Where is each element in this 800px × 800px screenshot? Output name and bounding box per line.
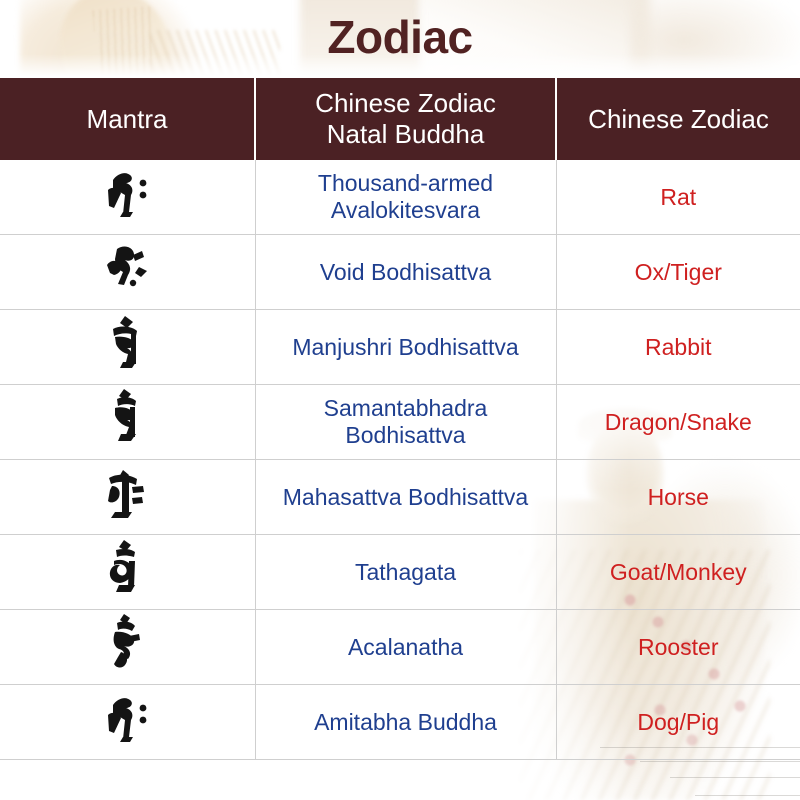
- zodiac-table-container: Mantra Chinese Zodiac Natal Buddha Chine…: [0, 78, 800, 760]
- natal-buddha-cell: Manjushri Bodhisattva: [255, 310, 556, 385]
- zodiac-sign-cell: Dragon/Snake: [556, 385, 800, 460]
- zodiac-infographic-page: Zodiac Mantra Chinese Zodiac Natal Buddh…: [0, 0, 800, 800]
- column-header-natal-buddha-line2: Natal Buddha: [327, 119, 485, 149]
- siddham-seed-syllable-am-icon: [99, 387, 155, 447]
- table-body: Thousand-armed Avalokitesvara Rat: [0, 160, 800, 760]
- siddham-seed-syllable-vam-icon: [99, 537, 155, 597]
- zodiac-sign-cell: Dog/Pig: [556, 685, 800, 760]
- mantra-cell: [0, 610, 255, 685]
- header-row: Mantra Chinese Zodiac Natal Buddha Chine…: [0, 78, 800, 160]
- column-header-chinese-zodiac: Chinese Zodiac: [556, 78, 800, 160]
- zodiac-sign-cell: Ox/Tiger: [556, 235, 800, 310]
- natal-buddha-line1: Thousand-armed: [318, 170, 493, 196]
- table-row: Amitabha Buddha Dog/Pig: [0, 685, 800, 760]
- siddham-seed-syllable-sa-icon: [99, 462, 155, 522]
- natal-buddha-cell: Mahasattva Bodhisattva: [255, 460, 556, 535]
- column-header-natal-buddha-line1: Chinese Zodiac: [315, 88, 496, 118]
- mantra-cell: [0, 160, 255, 235]
- siddham-seed-syllable-tram-icon: [99, 237, 155, 297]
- table-row: Acalanatha Rooster: [0, 610, 800, 685]
- table-row: Manjushri Bodhisattva Rabbit: [0, 310, 800, 385]
- mantra-cell: [0, 310, 255, 385]
- table-header: Mantra Chinese Zodiac Natal Buddha Chine…: [0, 78, 800, 160]
- table-row: Tathagata Goat/Monkey: [0, 535, 800, 610]
- mantra-cell: [0, 535, 255, 610]
- zodiac-sign-cell: Horse: [556, 460, 800, 535]
- mantra-cell: [0, 685, 255, 760]
- natal-buddha-cell: Thousand-armed Avalokitesvara: [255, 160, 556, 235]
- table-row: Thousand-armed Avalokitesvara Rat: [0, 160, 800, 235]
- table-row: Void Bodhisattva Ox/Tiger: [0, 235, 800, 310]
- mantra-cell: [0, 460, 255, 535]
- mantra-cell: [0, 235, 255, 310]
- natal-buddha-line1: Samantabhadra: [324, 395, 488, 421]
- mantra-cell: [0, 385, 255, 460]
- zodiac-sign-cell: Rabbit: [556, 310, 800, 385]
- siddham-seed-syllable-hrih-icon: [99, 162, 155, 222]
- table-row: Samantabhadra Bodhisattva Dragon/Snake: [0, 385, 800, 460]
- column-header-natal-buddha: Chinese Zodiac Natal Buddha: [255, 78, 556, 160]
- page-title: Zodiac: [0, 8, 800, 66]
- column-header-mantra: Mantra: [0, 78, 255, 160]
- natal-buddha-line2: Bodhisattva: [345, 422, 465, 448]
- siddham-seed-syllable-man-icon: [99, 312, 155, 372]
- siddham-seed-syllable-hrih-icon: [99, 687, 155, 747]
- zodiac-sign-cell: Rat: [556, 160, 800, 235]
- natal-buddha-cell: Acalanatha: [255, 610, 556, 685]
- siddham-seed-syllable-hamman-icon: [99, 612, 155, 672]
- natal-buddha-cell: Tathagata: [255, 535, 556, 610]
- zodiac-sign-cell: Goat/Monkey: [556, 535, 800, 610]
- natal-buddha-cell: Void Bodhisattva: [255, 235, 556, 310]
- natal-buddha-cell: Samantabhadra Bodhisattva: [255, 385, 556, 460]
- zodiac-table: Mantra Chinese Zodiac Natal Buddha Chine…: [0, 78, 800, 760]
- natal-buddha-cell: Amitabha Buddha: [255, 685, 556, 760]
- table-row: Mahasattva Bodhisattva Horse: [0, 460, 800, 535]
- natal-buddha-line2: Avalokitesvara: [331, 197, 480, 223]
- zodiac-sign-cell: Rooster: [556, 610, 800, 685]
